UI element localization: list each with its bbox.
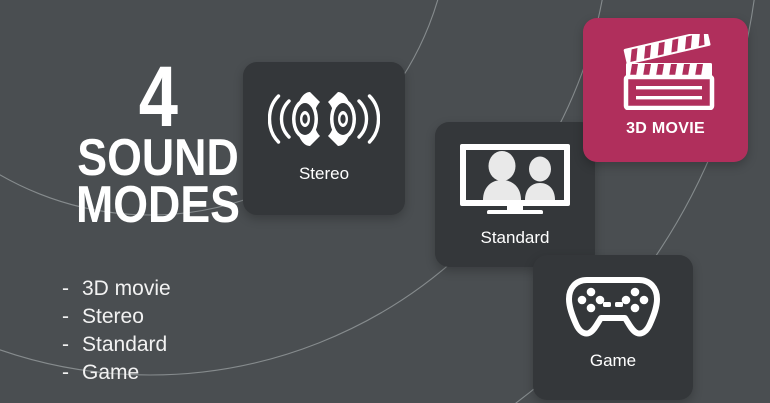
card-stereo[interactable]: Stereo: [243, 62, 405, 215]
headline-line-1: SOUND: [72, 135, 244, 183]
mode-list: -3D movie -Stereo -Standard -Game: [62, 275, 171, 387]
headline-line-2: MODES: [72, 182, 244, 230]
stereo-speakers-icon: [268, 88, 380, 150]
card-standard[interactable]: Standard: [435, 122, 595, 267]
card-label: Game: [590, 351, 636, 371]
gamepad-icon: [561, 271, 665, 341]
headline-number: 4: [76, 62, 240, 133]
bullet-dash: -: [62, 303, 82, 331]
card-label: Stereo: [299, 164, 349, 184]
list-item: -Game: [62, 359, 171, 387]
card-game[interactable]: Game: [533, 255, 693, 400]
headline-block: 4 SOUND MODES: [58, 62, 258, 230]
sound-modes-infographic: 4 SOUND MODES -3D movie -Stereo -Standar…: [0, 0, 770, 403]
list-item-label: 3D movie: [82, 277, 171, 300]
card-label: 3D MOVIE: [626, 120, 705, 138]
list-item: -Stereo: [62, 303, 171, 331]
tv-two-people-icon: [457, 142, 573, 214]
list-item-label: Standard: [82, 333, 167, 356]
card-label: Standard: [481, 228, 550, 248]
list-item: -Standard: [62, 331, 171, 359]
bullet-dash: -: [62, 359, 82, 387]
card-3dmovie[interactable]: 3D MOVIE: [583, 18, 748, 162]
list-item-label: Stereo: [82, 305, 144, 328]
list-item-label: Game: [82, 361, 139, 384]
clapperboard-icon: [614, 34, 718, 110]
list-item: -3D movie: [62, 275, 171, 303]
bullet-dash: -: [62, 331, 82, 359]
bullet-dash: -: [62, 275, 82, 303]
